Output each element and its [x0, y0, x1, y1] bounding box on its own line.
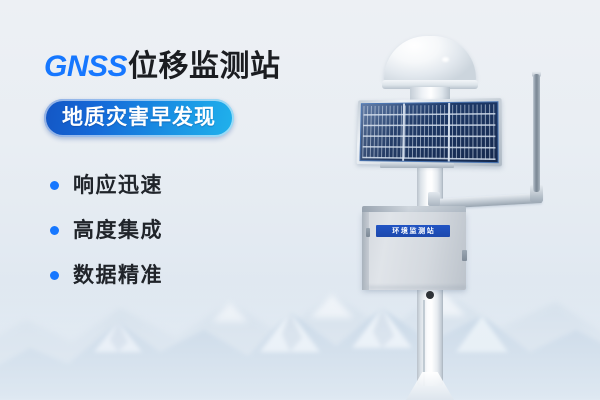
feature-label: 高度集成	[73, 220, 163, 241]
enclosure-label-strip: 环境监测站	[376, 225, 450, 237]
headline-block: GNSS位移监测站 地质灾害早发现 响应迅速 高度集成 数据精准	[44, 52, 344, 298]
feature-label: 响应迅速	[73, 175, 163, 196]
tagline-badge-label: 地质灾害早发现	[62, 107, 216, 128]
pole-base	[406, 372, 454, 400]
solar-panel-frame	[357, 98, 502, 166]
solar-panel-bracket	[380, 163, 454, 168]
equipment-enclosure: 环境监测站	[362, 206, 466, 290]
bullet-dot-icon	[50, 271, 59, 280]
feature-label: 数据精准	[73, 265, 163, 286]
solar-panel-glass	[359, 101, 498, 163]
whip-antenna	[533, 74, 540, 192]
feature-list: 响应迅速 高度集成 数据精准	[50, 163, 344, 298]
list-item: 数据精准	[50, 253, 344, 298]
monitoring-station-illustration: 环境监测站	[330, 0, 600, 400]
enclosure-label-text: 环境监测站	[392, 228, 435, 235]
tagline-badge: 地质灾害早发现	[44, 99, 234, 137]
list-item: 响应迅速	[50, 163, 344, 208]
solar-panel	[357, 98, 502, 166]
sensor-port-icon	[426, 291, 434, 299]
enclosure-body	[362, 212, 466, 290]
headline-english: GNSS	[44, 50, 127, 83]
gnss-dome-antenna-icon	[384, 36, 476, 84]
enclosure-bottom-shadow	[368, 286, 466, 291]
bullet-dot-icon	[50, 181, 59, 190]
bullet-dot-icon	[50, 226, 59, 235]
headline-chinese: 位移监测站	[128, 50, 281, 83]
dome-highlight	[442, 57, 449, 62]
list-item: 高度集成	[50, 208, 344, 253]
enclosure-latch-right	[462, 250, 467, 261]
promo-banner: GNSS位移监测站 地质灾害早发现 响应迅速 高度集成 数据精准	[0, 0, 600, 400]
solar-panel-gloss	[360, 102, 497, 162]
page-title: GNSS位移监测站	[44, 52, 344, 82]
enclosure-latch-left	[366, 228, 370, 237]
cross-arm-clamp-left	[428, 192, 440, 206]
enclosure-side-panel	[362, 212, 369, 290]
